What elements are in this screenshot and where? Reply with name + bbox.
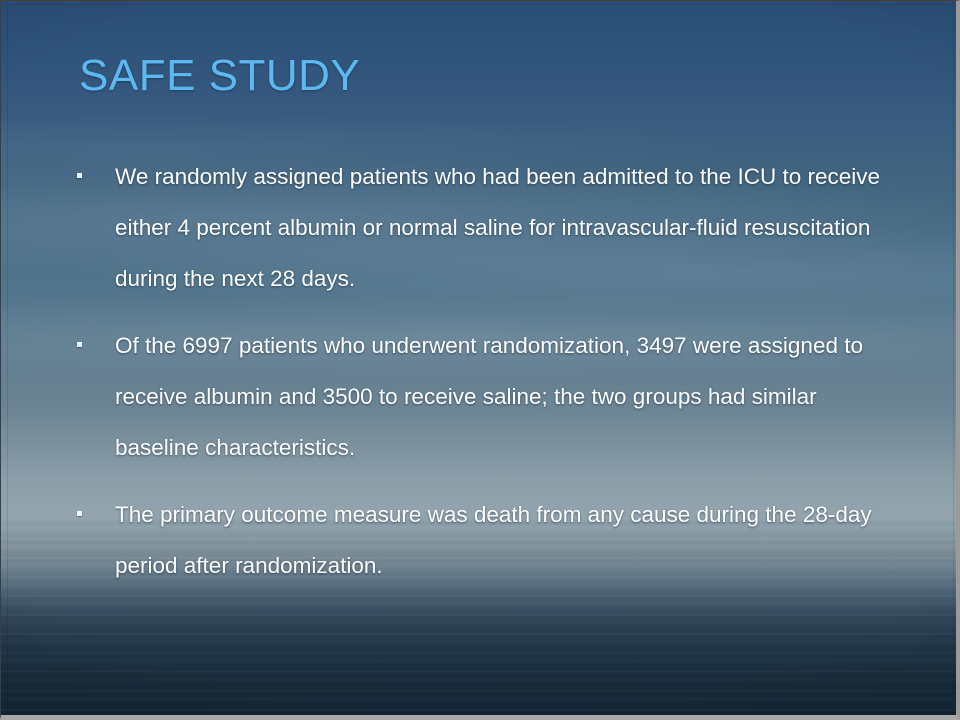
slide-content: SAFE STUDY We randomly assigned patients… <box>1 1 956 715</box>
slide-title: SAFE STUDY <box>79 51 360 101</box>
square-bullet-icon <box>77 173 82 178</box>
bullet-list: We randomly assigned patients who had be… <box>73 151 893 591</box>
bullet-text: We randomly assigned patients who had be… <box>115 151 893 304</box>
square-bullet-icon <box>77 342 82 347</box>
bullet-item: The primary outcome measure was death fr… <box>73 489 893 591</box>
bullet-item: Of the 6997 patients who underwent rando… <box>73 320 893 473</box>
bullet-text: Of the 6997 patients who underwent rando… <box>115 320 893 473</box>
bullet-text: The primary outcome measure was death fr… <box>115 489 893 591</box>
square-bullet-icon <box>77 511 82 516</box>
bullet-item: We randomly assigned patients who had be… <box>73 151 893 304</box>
presentation-slide: SAFE STUDY We randomly assigned patients… <box>0 0 960 720</box>
